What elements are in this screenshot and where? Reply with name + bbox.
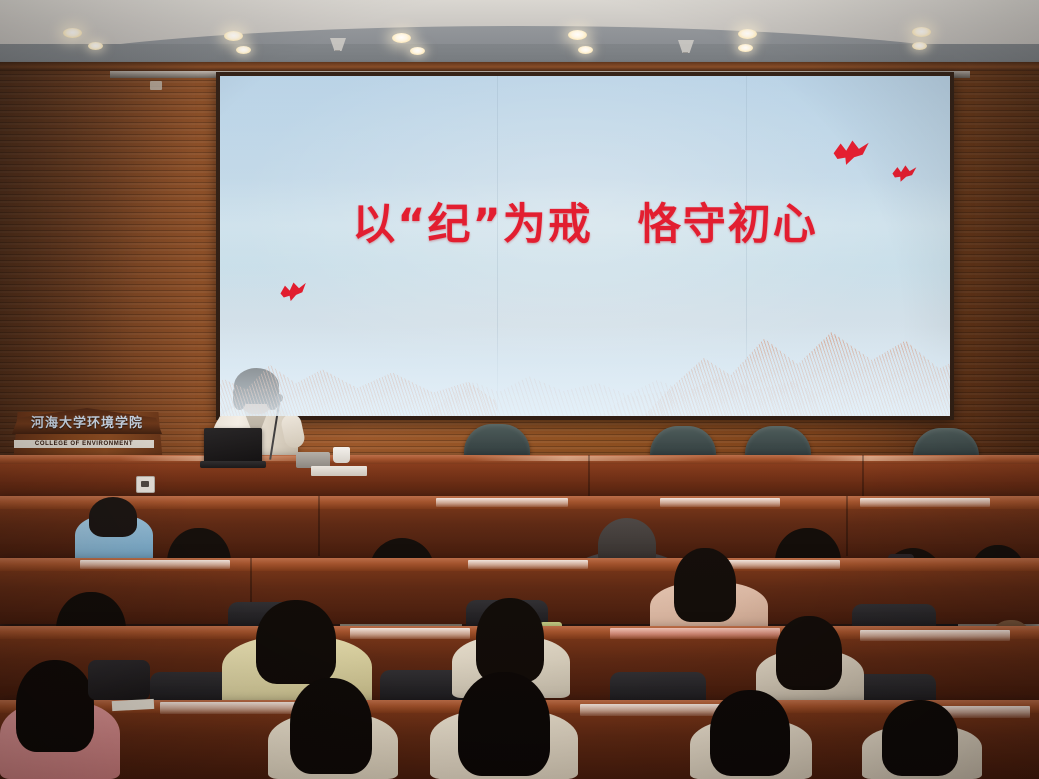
cup <box>333 447 350 463</box>
person-far-right-fr <box>862 700 982 779</box>
person-center-front <box>430 672 578 779</box>
ceiling-downlight <box>578 46 593 54</box>
nameplate <box>311 466 367 476</box>
person-hair <box>89 497 137 537</box>
ceiling-downlight <box>738 29 757 39</box>
desk-highlight <box>860 498 990 507</box>
stage-table-highlight <box>470 456 710 461</box>
person-hair <box>458 672 550 776</box>
person-cream-long <box>268 678 398 779</box>
lectern-sign-english: COLLEGE OF ENVIRONMENT <box>14 440 154 448</box>
ceiling-downlight <box>236 46 251 54</box>
person-right-front <box>690 690 812 779</box>
lectern-sign-chinese: 河海大学环境学院 <box>16 412 158 431</box>
person-hair <box>256 600 336 684</box>
desk-highlight <box>860 630 1010 641</box>
person-hair <box>882 700 958 776</box>
desk-highlight <box>436 498 568 507</box>
projection-screen-frame: 以“纪”为戒 恪守初心 <box>216 72 954 420</box>
laptop-base <box>200 461 266 468</box>
wall-outlet <box>136 476 155 493</box>
ceiling-downlight <box>912 27 931 37</box>
person-hair <box>476 598 544 682</box>
ceiling-downlight <box>63 28 82 38</box>
ceiling-downlight <box>224 31 243 41</box>
person-hair <box>290 678 372 774</box>
desk-highlight <box>468 560 588 569</box>
ceiling-downlight <box>568 30 587 40</box>
stage-table-highlight <box>790 456 990 461</box>
stage-table-seam <box>862 455 864 499</box>
ceiling-downlight <box>392 33 411 43</box>
laptop <box>204 428 262 463</box>
desk-highlight <box>660 498 780 507</box>
ceiling-downlight <box>738 44 753 52</box>
stage-table-seam <box>588 455 590 499</box>
person-hair <box>674 548 736 622</box>
bag-icon <box>88 660 150 700</box>
desk-highlight <box>80 560 230 569</box>
slide-title: 以“纪”为戒 恪守初心 <box>220 190 950 252</box>
lecture-hall-photo: 以“纪”为戒 恪守初心 河海大学环境学院 COLLEGE OF ENVIRONM… <box>0 0 1039 779</box>
desk-highlight <box>610 628 780 639</box>
person-hair <box>776 616 842 690</box>
projection-screen: 以“纪”为戒 恪守初心 <box>220 76 950 416</box>
ceiling-downlight <box>912 42 927 50</box>
ceiling-downlight <box>410 47 425 55</box>
person-hair <box>16 660 94 752</box>
desk-seam <box>318 496 320 556</box>
slide-mist <box>220 326 950 416</box>
ceiling-downlight <box>88 42 103 50</box>
person-hair <box>710 690 790 776</box>
wall-plate <box>150 81 162 90</box>
